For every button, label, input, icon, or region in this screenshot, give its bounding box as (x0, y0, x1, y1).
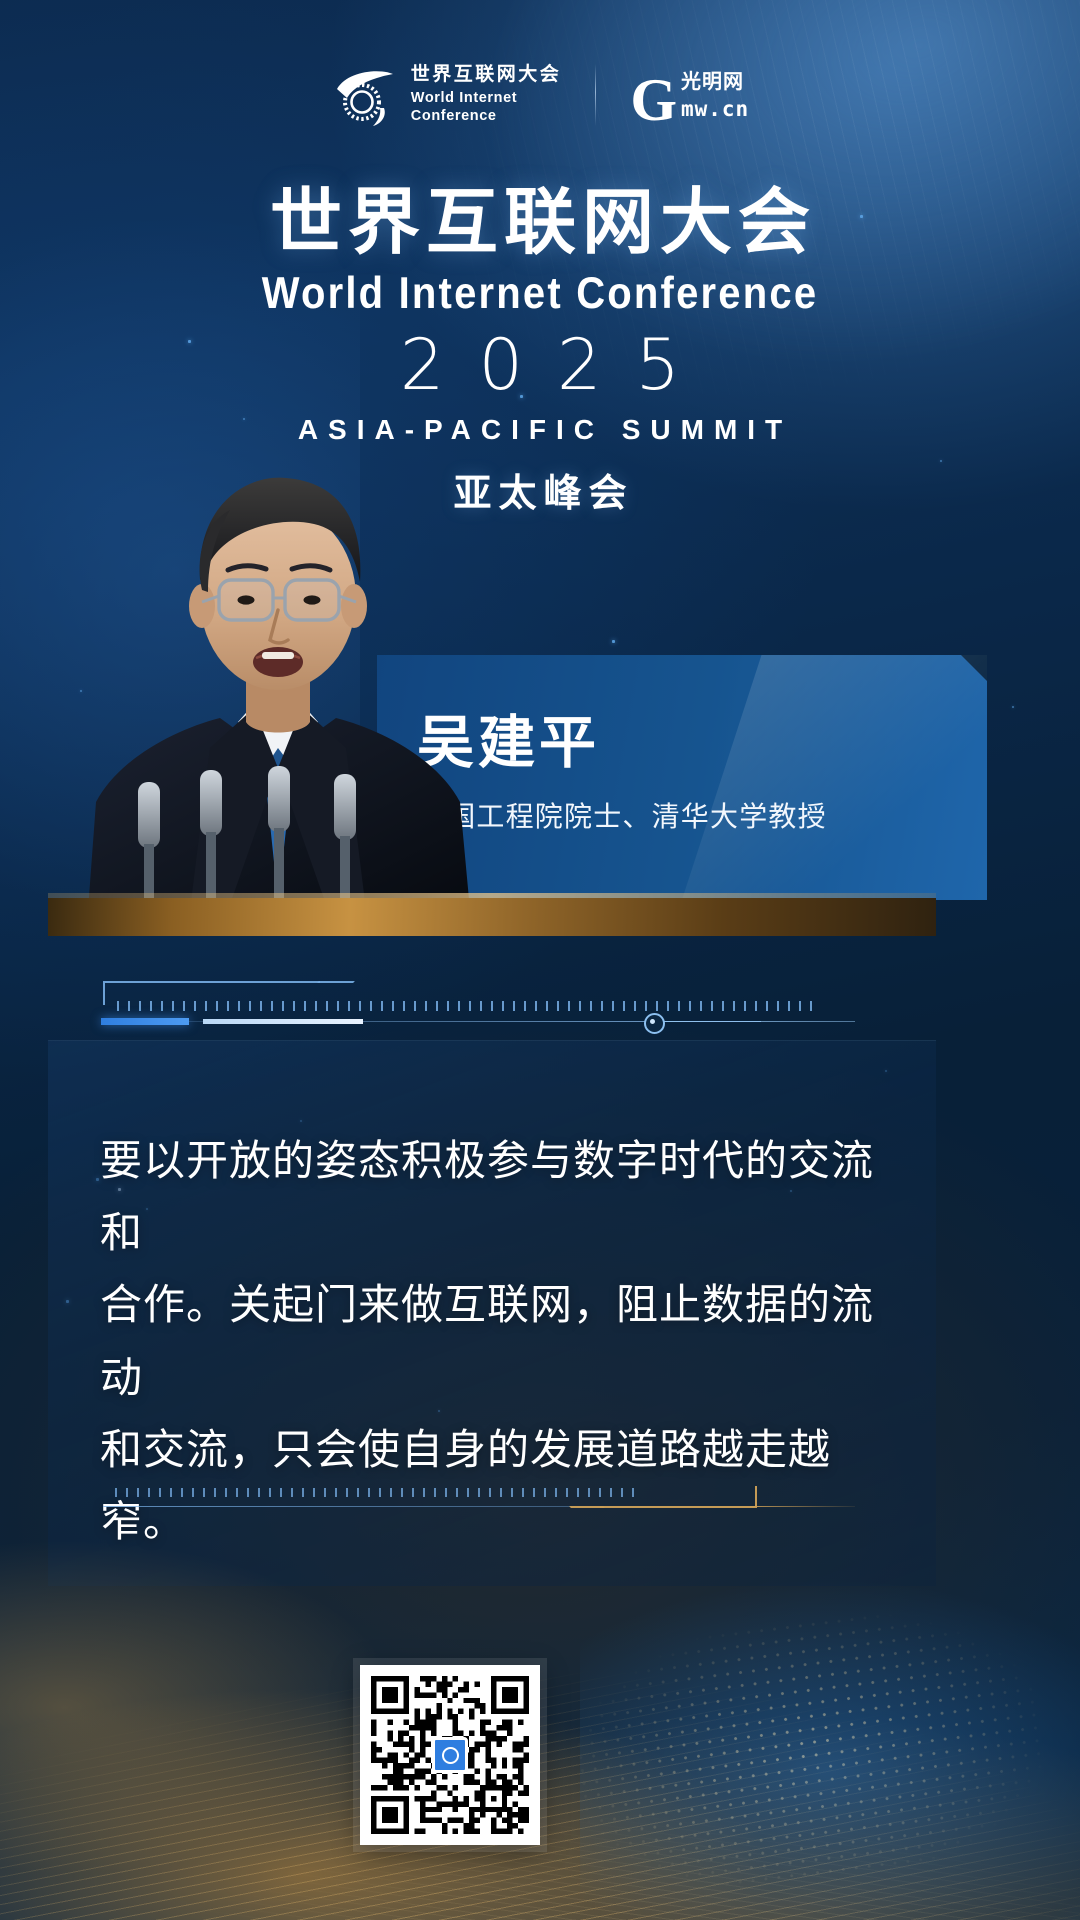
wic-logo-cn: 世界互联网大会 (411, 65, 562, 84)
title-en: World Internet Conference (0, 269, 1080, 319)
gmw-g-icon: G (630, 76, 675, 125)
fiber-blue-glow (580, 1560, 1080, 1920)
tech-divider-bottom (95, 1470, 985, 1540)
wic-logo-en-line1: World Internet (411, 89, 562, 107)
divider2-gold-bracket (600, 1486, 757, 1508)
wic-logo[interactable]: 世界互联网大会 World Internet Conference (331, 62, 562, 128)
header-logos: 世界互联网大会 World Internet Conference G 光明网 … (0, 62, 1080, 128)
logo-divider (595, 64, 596, 126)
quote-line-1: 要以开放的姿态积极参与数字时代的交流和 (100, 1125, 890, 1269)
divider-rule-right (655, 1021, 855, 1022)
wic-logo-en-line2: Conference (411, 107, 562, 125)
panel-corner-notch (961, 655, 987, 681)
speaker-portrait (78, 430, 478, 910)
divider-bar-white (203, 1019, 363, 1024)
wic-swirl-icon (331, 62, 397, 128)
qr-code[interactable] (360, 1665, 540, 1845)
title-year: 2025 (0, 330, 1080, 400)
gmw-logo-en: mw.cn (681, 97, 749, 121)
divider-node-icon (644, 1013, 665, 1034)
title-cn: 世界互联网大会 (0, 186, 1080, 259)
gmw-logo-cn: 光明网 (681, 65, 749, 94)
gmw-logo[interactable]: G 光明网 mw.cn (630, 65, 749, 125)
quote-line-2: 合作。关起门来做互联网，阻止数据的流动 (100, 1269, 890, 1413)
podium-bar (48, 898, 936, 936)
gmw-round-icon (432, 1737, 468, 1773)
divider2-tick-row (115, 1488, 635, 1497)
divider-bar-blue (101, 1018, 189, 1025)
divider2-gold-rule (750, 1506, 855, 1507)
speaker-role: 中国工程院院士、清华大学教授 (418, 795, 827, 835)
poster-root: 世界互联网大会 World Internet Conference G 光明网 … (0, 0, 1080, 1920)
divider-tick-row (117, 1001, 817, 1011)
